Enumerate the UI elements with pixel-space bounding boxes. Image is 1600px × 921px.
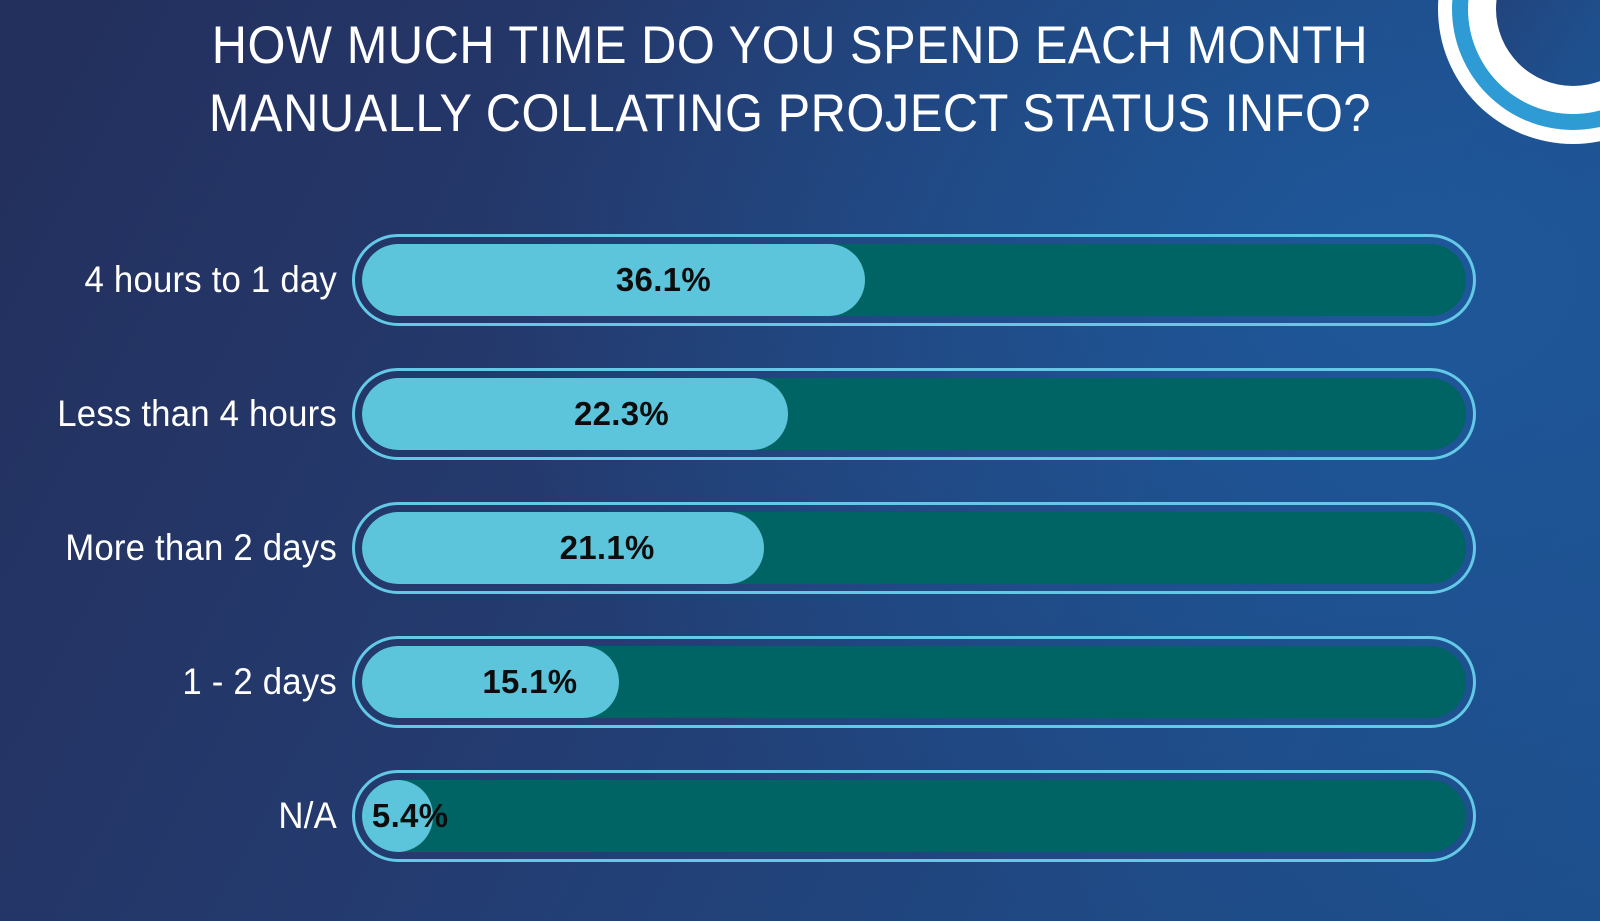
- bar-value-label: 22.3%: [574, 395, 669, 433]
- chart-title: HOW MUCH TIME DO YOU SPEND EACH MONTH MA…: [118, 12, 1461, 148]
- bar-fill: [362, 244, 865, 316]
- corner-arc-cutout: [1496, 0, 1600, 86]
- bar-category-label: N/A: [21, 795, 352, 837]
- bar-outline: 5.4%: [352, 770, 1476, 862]
- bar-track: 22.3%: [362, 378, 1466, 450]
- bar-row: N/A5.4%: [0, 767, 1600, 865]
- bar-value-label: 36.1%: [616, 261, 711, 299]
- bar-outline: 36.1%: [352, 234, 1476, 326]
- bar-category-label: 1 - 2 days: [21, 661, 352, 703]
- bar-outline: 22.3%: [352, 368, 1476, 460]
- bar-category-label: More than 2 days: [21, 527, 352, 569]
- corner-arc-ring-inner: [1468, 0, 1600, 114]
- bar-track: 5.4%: [362, 780, 1466, 852]
- bar-value-label: 5.4%: [372, 797, 448, 835]
- bar-outline: 15.1%: [352, 636, 1476, 728]
- bar-row: 4 hours to 1 day36.1%: [0, 231, 1600, 329]
- corner-arc-icon: [1438, 0, 1600, 144]
- bar-category-label: 4 hours to 1 day: [21, 259, 352, 301]
- infographic-canvas: HOW MUCH TIME DO YOU SPEND EACH MONTH MA…: [0, 0, 1600, 921]
- bar-value-label: 21.1%: [560, 529, 655, 567]
- bar-outline: 21.1%: [352, 502, 1476, 594]
- bar-category-label: Less than 4 hours: [21, 393, 352, 435]
- bar-row: Less than 4 hours22.3%: [0, 365, 1600, 463]
- corner-arc-ring-blue: [1452, 0, 1600, 130]
- bar-row: 1 - 2 days15.1%: [0, 633, 1600, 731]
- corner-arc-ring-outer: [1438, 0, 1600, 144]
- bar-row: More than 2 days21.1%: [0, 499, 1600, 597]
- bar-chart: 4 hours to 1 day36.1%Less than 4 hours22…: [0, 214, 1600, 874]
- bar-track: 21.1%: [362, 512, 1466, 584]
- bar-track: 36.1%: [362, 244, 1466, 316]
- bar-value-label: 15.1%: [482, 663, 577, 701]
- bar-track: 15.1%: [362, 646, 1466, 718]
